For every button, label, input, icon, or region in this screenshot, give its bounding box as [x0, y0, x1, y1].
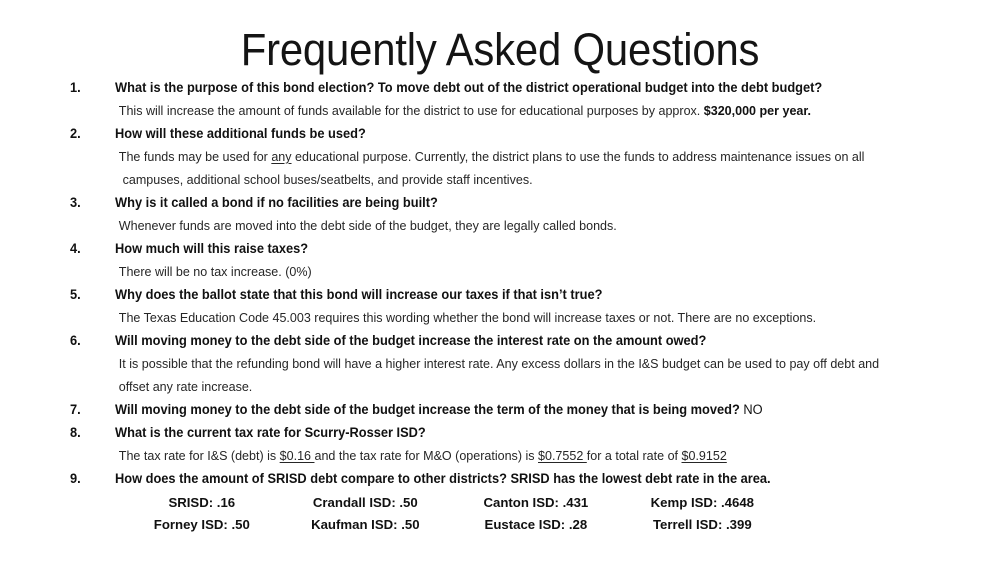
district-cell: Canton ISD: .431: [452, 492, 620, 514]
faq-question-8: What is the current tax rate for Scurry-…: [115, 421, 918, 444]
tax-rate-total: $0.9152: [682, 448, 727, 463]
faq-item-5: 5. Why does the ballot state that this b…: [0, 283, 960, 329]
faq-number-7: 7.: [70, 398, 102, 421]
faq-answer-6-line2: offset any rate increase.: [115, 375, 918, 398]
district-cell: Eustace ISD: .28: [452, 514, 620, 536]
faq-answer-2-pre: The funds may be used for: [119, 149, 272, 164]
faq-answer-2-post: educational purpose. Currently, the dist…: [292, 149, 865, 164]
district-cell: Forney ISD: .50: [125, 514, 279, 536]
tax-rate-is: $0.16: [280, 448, 315, 463]
slide-root: Frequently Asked Questions 1. What is th…: [0, 0, 1000, 563]
faq-item-6: 6. Will moving money to the debt side of…: [0, 329, 960, 398]
faq-item-7: 7. Will moving money to the debt side of…: [0, 398, 960, 421]
faq-number-1: 1.: [70, 76, 102, 99]
tax-rate-mo: $0.7552: [538, 448, 587, 463]
faq-answer-3: Whenever funds are moved into the debt s…: [115, 214, 918, 237]
faq-answer-1: This will increase the amount of funds a…: [115, 99, 918, 122]
faq-number-6: 6.: [70, 329, 102, 352]
faq-question-4: How much will this raise taxes?: [115, 237, 918, 260]
district-cell: Terrell ISD: .399: [620, 514, 785, 536]
faq-item-3: 3. Why is it called a bond if no facilit…: [0, 191, 960, 237]
faq-answer-8: The tax rate for I&S (debt) is $0.16 and…: [115, 444, 918, 467]
faq-item-9: 9. How does the amount of SRISD debt com…: [0, 467, 960, 490]
faq-number-9: 9.: [70, 467, 102, 490]
faq-answer-6-line1: It is possible that the refunding bond w…: [115, 352, 918, 375]
faq-question-9: How does the amount of SRISD debt compar…: [115, 467, 918, 490]
faq-number-5: 5.: [70, 283, 102, 306]
faq-answer-1-highlight: $320,000 per year.: [704, 103, 811, 118]
district-cell: Kemp ISD: .4648: [620, 492, 785, 514]
faq-answer-2-emphasis: any: [271, 149, 291, 164]
faq-list: 1. What is the purpose of this bond elec…: [0, 76, 1000, 490]
faq-answer-7-inline: NO: [740, 402, 763, 417]
faq-answer-5: The Texas Education Code 45.003 requires…: [115, 306, 918, 329]
faq-question-2: How will these additional funds be used?: [115, 122, 918, 145]
faq-answer-2-line2: campuses, additional school buses/seatbe…: [115, 168, 918, 191]
faq-question-3: Why is it called a bond if no facilities…: [115, 191, 918, 214]
page-title: Frequently Asked Questions: [35, 0, 965, 76]
faq-answer-1-text: This will increase the amount of funds a…: [119, 103, 704, 118]
district-cell: Kaufman ISD: .50: [279, 514, 452, 536]
table-row: Forney ISD: .50 Kaufman ISD: .50 Eustace…: [125, 514, 785, 536]
table-row: SRISD: .16 Crandall ISD: .50 Canton ISD:…: [125, 492, 785, 514]
faq-question-7: Will moving money to the debt side of th…: [115, 398, 918, 421]
district-cell: Crandall ISD: .50: [279, 492, 452, 514]
faq-answer-8-seg1: The tax rate for I&S (debt) is: [119, 448, 280, 463]
district-debt-rate-table: SRISD: .16 Crandall ISD: .50 Canton ISD:…: [125, 492, 785, 536]
district-debt-rate-body: SRISD: .16 Crandall ISD: .50 Canton ISD:…: [125, 492, 785, 536]
faq-number-4: 4.: [70, 237, 102, 260]
faq-number-3: 3.: [70, 191, 102, 214]
faq-answer-4: There will be no tax increase. (0%): [115, 260, 918, 283]
faq-question-7-text: Will moving money to the debt side of th…: [115, 402, 740, 417]
faq-number-8: 8.: [70, 421, 102, 444]
faq-answer-2-line1: The funds may be used for any educationa…: [115, 145, 918, 168]
district-cell: SRISD: .16: [125, 492, 279, 514]
faq-question-1: What is the purpose of this bond electio…: [115, 76, 918, 99]
faq-item-4: 4. How much will this raise taxes? There…: [0, 237, 960, 283]
faq-number-2: 2.: [70, 122, 102, 145]
faq-question-5: Why does the ballot state that this bond…: [115, 283, 918, 306]
faq-answer-8-seg3: for a total rate of: [587, 448, 682, 463]
faq-answer-8-seg2: and the tax rate for M&O (operations) is: [314, 448, 538, 463]
faq-item-8: 8. What is the current tax rate for Scur…: [0, 421, 960, 467]
faq-question-6: Will moving money to the debt side of th…: [115, 329, 918, 352]
faq-item-1: 1. What is the purpose of this bond elec…: [0, 76, 960, 122]
faq-item-2: 2. How will these additional funds be us…: [0, 122, 960, 191]
